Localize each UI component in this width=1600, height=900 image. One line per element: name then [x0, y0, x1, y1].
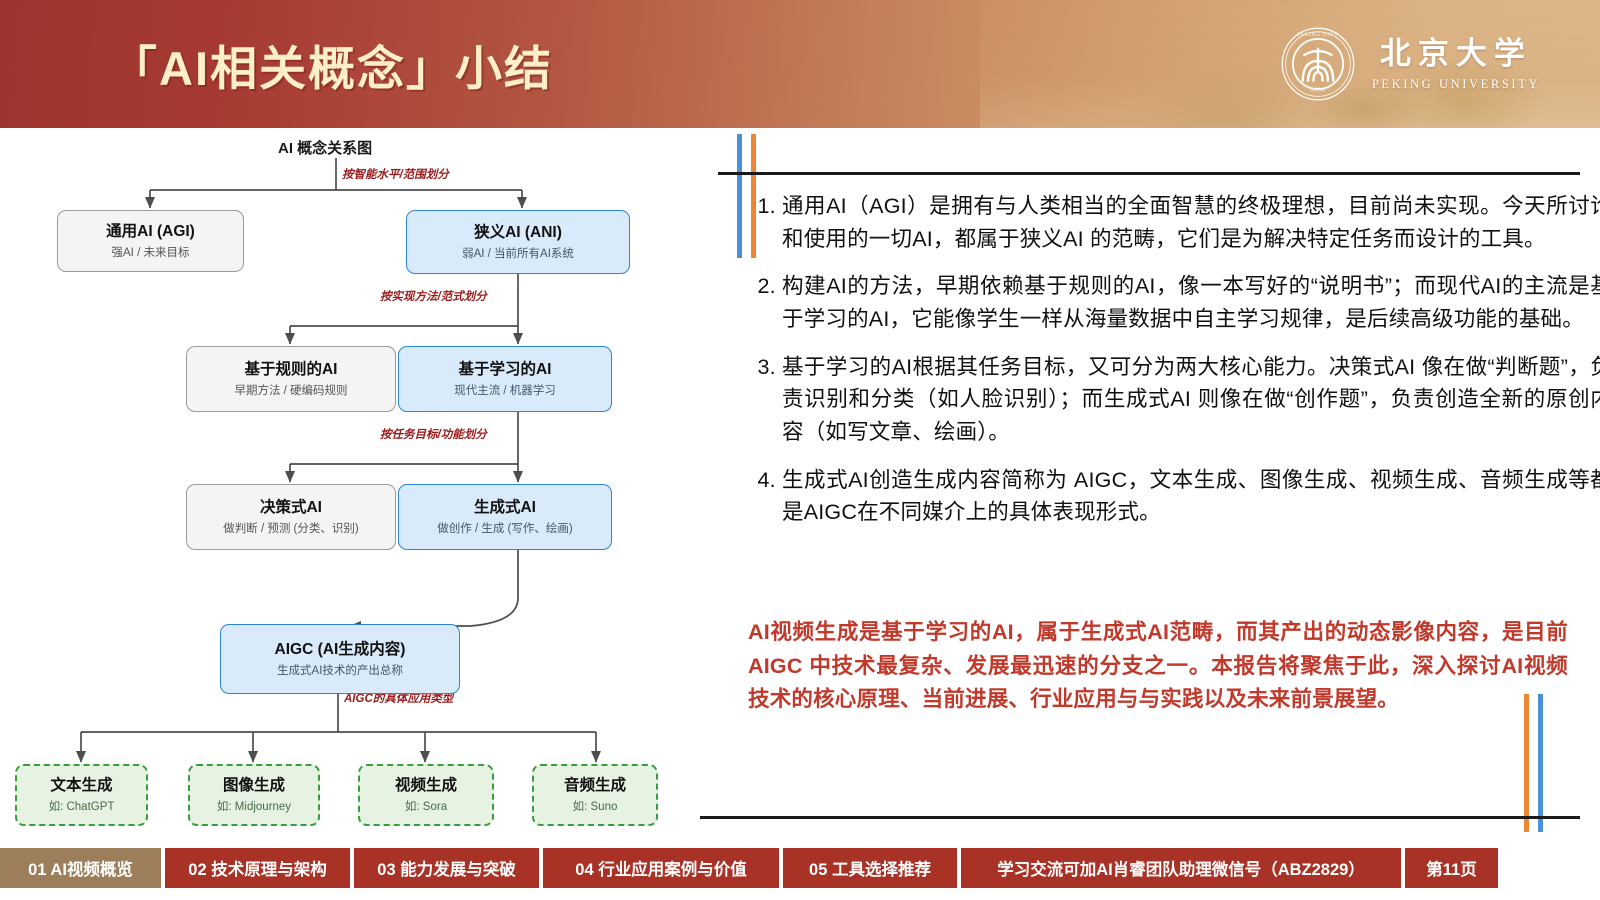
node-learning-based[interactable]: 基于学习的AI 现代主流 / 机器学习 [398, 346, 612, 412]
diagram-title: AI 概念关系图 [278, 137, 372, 158]
node-title: AIGC (AI生成内容) [275, 640, 406, 659]
node-title: 视频生成 [395, 776, 457, 795]
node-subtitle: 做创作 / 生成 (写作、绘画) [437, 522, 572, 536]
node-title: 狭义AI (ANI) [474, 223, 562, 242]
node-generative-ai[interactable]: 生成式AI 做创作 / 生成 (写作、绘画) [398, 484, 612, 550]
node-title: 基于规则的AI [244, 360, 337, 379]
node-rule-based[interactable]: 基于规则的AI 早期方法 / 硬编码规则 [186, 346, 396, 412]
ai-concept-diagram: AI 概念关系图 [0, 128, 700, 843]
accent-bar-blue-top [737, 134, 742, 258]
node-title: 生成式AI [474, 498, 536, 517]
node-subtitle: 强AI / 未来目标 [112, 246, 190, 260]
edge-label-3: 按任务目标/功能划分 [380, 426, 487, 442]
node-subtitle: 现代主流 / 机器学习 [454, 384, 556, 398]
divider-bottom [700, 816, 1580, 819]
node-audio-gen[interactable]: 音频生成 如: Suno [532, 764, 658, 826]
node-decision-ai[interactable]: 决策式AI 做判断 / 预测 (分类、识别) [186, 484, 396, 550]
svg-text:PEKING UNIV: PEKING UNIV [1297, 33, 1339, 38]
summary-point: 生成式AI创造生成内容简称为 AIGC，文本生成、图像生成、视频生成、音频生成等… [782, 464, 1600, 529]
node-subtitle: 如: Midjourney [217, 800, 291, 814]
footer-nav: 01 AI视频概览 02 技术原理与架构 03 能力发展与突破 04 行业应用案… [0, 848, 1600, 888]
summary-panel: 通用AI（AGI）是拥有与人类相当的全面智慧的终极理想，目前尚未实现。今天所讨论… [700, 128, 1600, 843]
node-subtitle: 如: Sora [405, 800, 447, 814]
pku-name-en: PEKING UNIVERSITY [1372, 78, 1540, 91]
footer-page-number: 第11页 [1405, 848, 1498, 888]
footer-item-04[interactable]: 04 行业应用案例与价值 [543, 848, 779, 888]
accent-bar-orange-bottom [1524, 694, 1529, 832]
node-agi[interactable]: 通用AI (AGI) 强AI / 未来目标 [57, 210, 244, 272]
pku-name-cn: 北京大学 [1380, 38, 1532, 69]
node-subtitle: 如: ChatGPT [49, 800, 115, 814]
node-title: 通用AI (AGI) [106, 222, 195, 241]
node-title: 音频生成 [564, 776, 626, 795]
summary-point: 构建AI的方法，早期依赖基于规则的AI，像一本写好的“说明书”；而现代AI的主流… [782, 270, 1600, 335]
footer-item-01[interactable]: 01 AI视频概览 [0, 848, 161, 888]
edge-label-2: 按实现方法/范式划分 [380, 288, 487, 304]
pku-seal-icon: 1898 PEKING UNIV [1280, 26, 1356, 102]
highlight-paragraph: AI视频生成是基于学习的AI，属于生成式AI范畴，而其产出的动态影像内容，是目前… [748, 616, 1568, 717]
node-subtitle: 如: Suno [573, 800, 618, 814]
node-title: 决策式AI [260, 498, 322, 517]
node-video-gen[interactable]: 视频生成 如: Sora [358, 764, 494, 826]
node-subtitle: 生成式AI技术的产出总称 [277, 664, 403, 678]
slide-root: 「AI相关概念」小结 1898 PEKING UNIV 北京大学 PEKING … [0, 0, 1600, 900]
header-banner: 「AI相关概念」小结 1898 PEKING UNIV 北京大学 PEKING … [0, 0, 1600, 128]
node-text-gen[interactable]: 文本生成 如: ChatGPT [15, 764, 148, 826]
node-subtitle: 早期方法 / 硬编码规则 [234, 384, 347, 398]
node-image-gen[interactable]: 图像生成 如: Midjourney [188, 764, 320, 826]
node-title: 文本生成 [50, 776, 112, 795]
divider-top [718, 172, 1580, 175]
footer-item-03[interactable]: 03 能力发展与突破 [354, 848, 539, 888]
node-subtitle: 做判断 / 预测 (分类、识别) [223, 522, 358, 536]
summary-point: 基于学习的AI根据其任务目标，又可分为两大核心能力。决策式AI 像在做“判断题”… [782, 351, 1600, 449]
footer-item-02[interactable]: 02 技术原理与架构 [165, 848, 350, 888]
page-title: 「AI相关概念」小结 [110, 30, 553, 99]
pku-wordmark: 北京大学 PEKING UNIVERSITY [1372, 38, 1540, 91]
node-aigc[interactable]: AIGC (AI生成内容) 生成式AI技术的产出总称 [220, 624, 460, 694]
accent-bar-blue-bottom [1538, 694, 1543, 832]
node-title: 基于学习的AI [458, 360, 551, 379]
footer-item-05[interactable]: 05 工具选择推荐 [783, 848, 957, 888]
pku-logo: 1898 PEKING UNIV 北京大学 PEKING UNIVERSITY [1280, 26, 1540, 102]
summary-points-list: 通用AI（AGI）是拥有与人类相当的全面智慧的终极理想，目前尚未实现。今天所讨论… [748, 190, 1600, 544]
svg-text:1898: 1898 [1310, 87, 1325, 93]
footer-contact[interactable]: 学习交流可加AI肖睿团队助理微信号（ABZ2829） [961, 848, 1401, 888]
node-subtitle: 弱AI / 当前所有AI系统 [462, 247, 574, 261]
node-title: 图像生成 [223, 776, 285, 795]
edge-label-1: 按智能水平/范围划分 [342, 166, 449, 182]
summary-point: 通用AI（AGI）是拥有与人类相当的全面智慧的终极理想，目前尚未实现。今天所讨论… [782, 190, 1600, 255]
node-ani[interactable]: 狭义AI (ANI) 弱AI / 当前所有AI系统 [406, 210, 630, 274]
